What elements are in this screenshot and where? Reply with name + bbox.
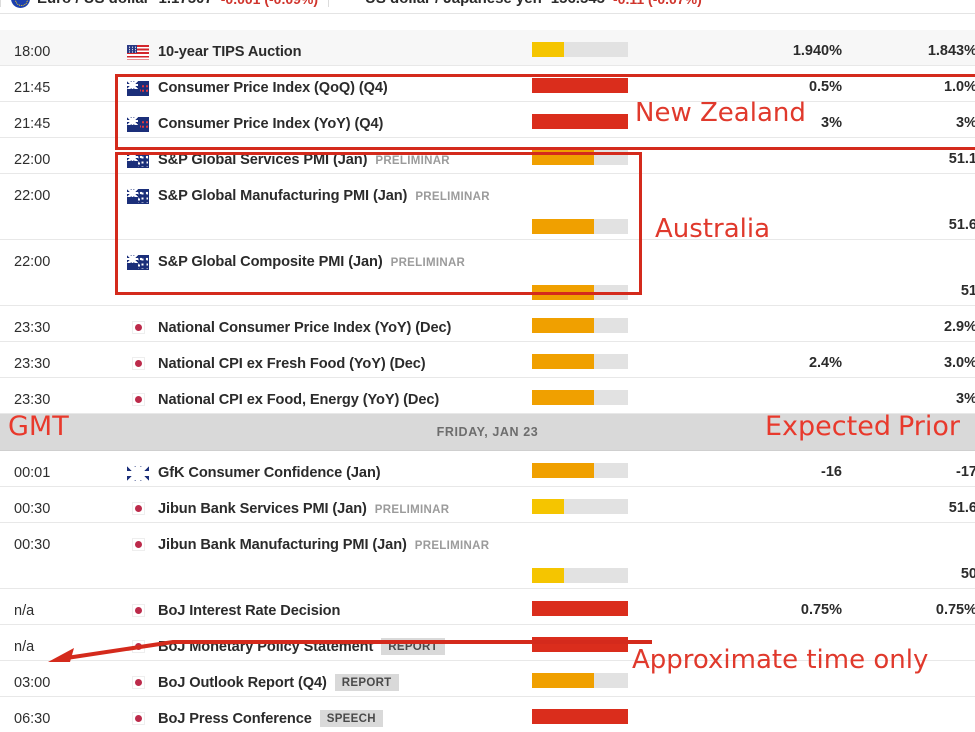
row-time: 00:30 — [0, 523, 118, 553]
row-flag-cell — [118, 174, 158, 204]
row-prior-value: -17 — [847, 464, 975, 480]
calendar-row[interactable]: n/aBoJ Interest Rate Decision0.75%0.75% — [0, 589, 975, 625]
row-prior-value: 51.1 — [847, 151, 975, 167]
row-flag-cell — [118, 306, 158, 334]
au-flag-icon — [127, 189, 149, 204]
calendar-row[interactable]: 18:0010-year TIPS Auction1.940%1.843% — [0, 30, 975, 66]
volatility-bar-medium — [532, 673, 628, 688]
row-prior-value: 2.9% — [847, 319, 975, 335]
row-expected-value: 2.4% — [662, 355, 842, 371]
row-expected-value: 1.940% — [662, 43, 842, 59]
jp-flag-icon — [132, 676, 145, 689]
row-prior-value: 50 — [847, 566, 975, 582]
jp-flag-icon — [132, 604, 145, 617]
row-prior-value: 51 — [847, 283, 975, 299]
jp-flag-icon — [132, 538, 145, 551]
nz-flag-icon — [127, 81, 149, 96]
uk-flag-icon — [127, 466, 149, 481]
event-name: National CPI ex Food, Energy (YoY) (Dec) — [158, 392, 439, 408]
row-flag-cell — [118, 697, 158, 725]
row-flag-cell — [118, 102, 158, 132]
event-badge: REPORT — [335, 674, 399, 691]
row-expected-value: 0.5% — [662, 79, 842, 95]
row-prior-value: 3.0% — [847, 355, 975, 371]
row-prior-value: 51.6 — [847, 217, 975, 233]
jp-flag-icon — [132, 640, 145, 653]
row-time: 23:30 — [0, 342, 118, 372]
volatility-bar-medium — [532, 285, 628, 300]
row-prior-value: 0.75% — [847, 602, 975, 618]
au-flag-icon — [127, 255, 149, 270]
row-event-cell[interactable]: Jibun Bank Manufacturing PMI (Jan)PRELIM… — [158, 523, 975, 554]
row-flag-cell — [118, 523, 158, 551]
row-time: 22:00 — [0, 174, 118, 204]
au-flag-icon — [127, 153, 149, 168]
us-flag-icon — [127, 45, 149, 60]
row-event-cell[interactable]: S&P Global Manufacturing PMI (Jan)PRELIM… — [158, 174, 975, 205]
calendar-row[interactable]: n/aBoJ Monetary Policy StatementREPORT — [0, 625, 975, 661]
ticker-name: Euro / US dollar — [37, 0, 150, 7]
market-ticker-bar: Euro / US dollar 1.17507 -0.001 (-0.09%)… — [0, 0, 975, 14]
calendar-row[interactable]: 22:00S&P Global Manufacturing PMI (Jan)P… — [0, 174, 975, 240]
calendar-row[interactable]: 00:30Jibun Bank Manufacturing PMI (Jan)P… — [0, 523, 975, 589]
us-jp-flag-icon — [339, 0, 358, 8]
volatility-bar-high — [532, 709, 628, 724]
row-time: 00:01 — [0, 451, 118, 481]
event-name: National CPI ex Fresh Food (YoY) (Dec) — [158, 356, 426, 372]
row-time: 23:30 — [0, 306, 118, 336]
event-name: Consumer Price Index (YoY) (Q4) — [158, 116, 383, 132]
row-expected-value: 0.75% — [662, 602, 842, 618]
row-flag-cell — [118, 451, 158, 481]
volatility-bar-high — [532, 601, 628, 616]
event-name: BoJ Interest Rate Decision — [158, 603, 340, 619]
calendar-row[interactable]: 00:01GfK Consumer Confidence (Jan)-16-17 — [0, 451, 975, 487]
ticker-name: US dollar / Japanese yen — [365, 0, 542, 7]
volatility-bar-medium — [532, 354, 628, 369]
volatility-bar-high — [532, 637, 628, 652]
calendar-row[interactable]: 03:00BoJ Outlook Report (Q4)REPORT — [0, 661, 975, 697]
row-flag-cell — [118, 138, 158, 168]
event-name: BoJ Monetary Policy Statement — [158, 639, 373, 655]
volatility-bar-medium — [532, 318, 628, 333]
calendar-row[interactable]: 23:30National CPI ex Fresh Food (YoY) (D… — [0, 342, 975, 378]
row-prior-value: 3% — [847, 391, 975, 407]
row-flag-cell — [118, 342, 158, 370]
event-name: Jibun Bank Services PMI (Jan) — [158, 501, 367, 517]
event-name: Consumer Price Index (QoQ) (Q4) — [158, 80, 388, 96]
row-time: 21:45 — [0, 102, 118, 132]
row-time: 03:00 — [0, 661, 118, 691]
row-time: 06:30 — [0, 697, 118, 727]
volatility-bar-high — [532, 114, 628, 129]
event-badge: REPORT — [381, 638, 445, 655]
row-prior-value: 1.843% — [847, 43, 975, 59]
calendar-row[interactable]: 22:00S&P Global Services PMI (Jan)PRELIM… — [0, 138, 975, 174]
volatility-bar-low — [532, 568, 628, 583]
day-separator-label: FRIDAY, JAN 23 — [437, 425, 539, 439]
row-expected-value: -16 — [662, 464, 842, 480]
row-prior-value: 1.0% — [847, 79, 975, 95]
calendar-row[interactable]: 23:30National CPI ex Food, Energy (YoY) … — [0, 378, 975, 414]
ticker-price: 1.17507 — [159, 0, 213, 7]
event-badge: SPEECH — [320, 710, 383, 727]
row-flag-cell — [118, 240, 158, 270]
row-time: 23:30 — [0, 378, 118, 408]
volatility-bar-high — [532, 78, 628, 93]
row-time: 22:00 — [0, 138, 118, 168]
row-flag-cell — [118, 378, 158, 406]
nz-flag-icon — [127, 117, 149, 132]
row-time: 18:00 — [0, 30, 118, 60]
row-flag-cell — [118, 661, 158, 689]
jp-flag-icon — [132, 393, 145, 406]
row-time: n/a — [0, 589, 118, 619]
row-time: 00:30 — [0, 487, 118, 517]
jp-flag-icon — [132, 712, 145, 725]
jp-flag-icon — [132, 321, 145, 334]
calendar-row[interactable]: 06:30BoJ Press ConferenceSPEECH — [0, 697, 975, 732]
economic-calendar-table: 18:0010-year TIPS Auction1.940%1.843%21:… — [0, 30, 975, 732]
calendar-row[interactable]: 21:45Consumer Price Index (YoY) (Q4)3%3% — [0, 102, 975, 138]
row-flag-cell — [118, 625, 158, 653]
event-name: BoJ Press Conference — [158, 711, 312, 727]
row-expected-value: 3% — [662, 115, 842, 131]
row-flag-cell — [118, 487, 158, 515]
event-name: National Consumer Price Index (YoY) (Dec… — [158, 320, 451, 336]
event-name: S&P Global Composite PMI (Jan) — [158, 254, 383, 270]
row-flag-cell — [118, 589, 158, 617]
event-preliminary-label: PRELIMINAR — [375, 155, 450, 167]
event-name: S&P Global Services PMI (Jan) — [158, 152, 367, 168]
row-time: 22:00 — [0, 240, 118, 270]
event-preliminary-label: PRELIMINAR — [415, 540, 490, 552]
row-prior-value: 3% — [847, 115, 975, 131]
event-name: S&P Global Manufacturing PMI (Jan) — [158, 188, 407, 204]
volatility-bar-low — [532, 42, 628, 57]
jp-flag-icon — [132, 502, 145, 515]
row-flag-cell — [118, 30, 158, 60]
event-name: 10-year TIPS Auction — [158, 44, 301, 60]
volatility-bar-medium — [532, 219, 628, 234]
eu-flag-icon — [11, 0, 30, 8]
calendar-row[interactable]: 23:30National Consumer Price Index (YoY)… — [0, 306, 975, 342]
event-name: Jibun Bank Manufacturing PMI (Jan) — [158, 537, 407, 553]
row-prior-value: 51.6 — [847, 500, 975, 516]
ticker-item-eurusd[interactable]: Euro / US dollar 1.17507 -0.001 (-0.09%) — [1, 0, 328, 14]
ticker-change: -0.001 (-0.09%) — [221, 0, 318, 7]
event-name: BoJ Outlook Report (Q4) — [158, 675, 327, 691]
volatility-bar-medium — [532, 150, 628, 165]
event-name: GfK Consumer Confidence (Jan) — [158, 465, 381, 481]
ticker-item-usdjpy[interactable]: US dollar / Japanese yen 156.545 -0.11 (… — [329, 0, 712, 14]
day-separator-header: FRIDAY, JAN 23 — [0, 414, 975, 451]
volatility-bar-low — [532, 499, 628, 514]
row-time: 21:45 — [0, 66, 118, 96]
calendar-row[interactable]: 00:30Jibun Bank Services PMI (Jan)PRELIM… — [0, 487, 975, 523]
economic-calendar-page: Euro / US dollar 1.17507 -0.001 (-0.09%)… — [0, 0, 975, 732]
row-time: n/a — [0, 625, 118, 655]
event-preliminary-label: PRELIMINAR — [415, 191, 490, 203]
volatility-bar-medium — [532, 390, 628, 405]
volatility-bar-medium — [532, 463, 628, 478]
row-event-cell[interactable]: S&P Global Composite PMI (Jan)PRELIMINAR — [158, 240, 975, 271]
calendar-row[interactable]: 21:45Consumer Price Index (QoQ) (Q4)0.5%… — [0, 66, 975, 102]
row-flag-cell — [118, 66, 158, 96]
ticker-change: -0.11 (-0.07%) — [613, 0, 702, 7]
event-preliminary-label: PRELIMINAR — [375, 504, 450, 516]
ticker-price: 156.545 — [551, 0, 605, 7]
event-preliminary-label: PRELIMINAR — [391, 257, 466, 269]
jp-flag-icon — [132, 357, 145, 370]
calendar-row[interactable]: 22:00S&P Global Composite PMI (Jan)PRELI… — [0, 240, 975, 306]
